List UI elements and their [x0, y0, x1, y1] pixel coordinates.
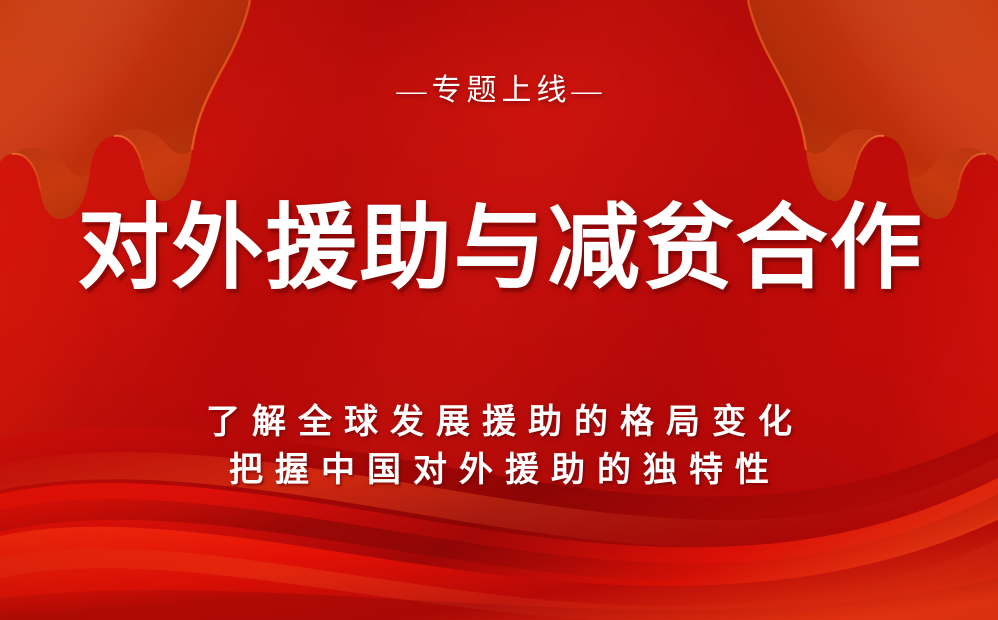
poster-content: —专题上线— 对外援助与减贫合作 了解全球发展援助的格局变化 把握中国对外援助的… — [0, 0, 998, 620]
page-title: 对外援助与减贫合作 — [75, 202, 923, 295]
eyebrow-label: —专题上线— — [392, 76, 607, 106]
subtitle-line-1: 了解全球发展援助的格局变化 — [194, 405, 804, 439]
subtitle-line-2: 把握中国对外援助的独特性 — [217, 453, 781, 487]
poster-banner: —专题上线— 对外援助与减贫合作 了解全球发展援助的格局变化 把握中国对外援助的… — [0, 0, 998, 620]
subtitle-group: 了解全球发展援助的格局变化 把握中国对外援助的独特性 — [194, 405, 804, 487]
